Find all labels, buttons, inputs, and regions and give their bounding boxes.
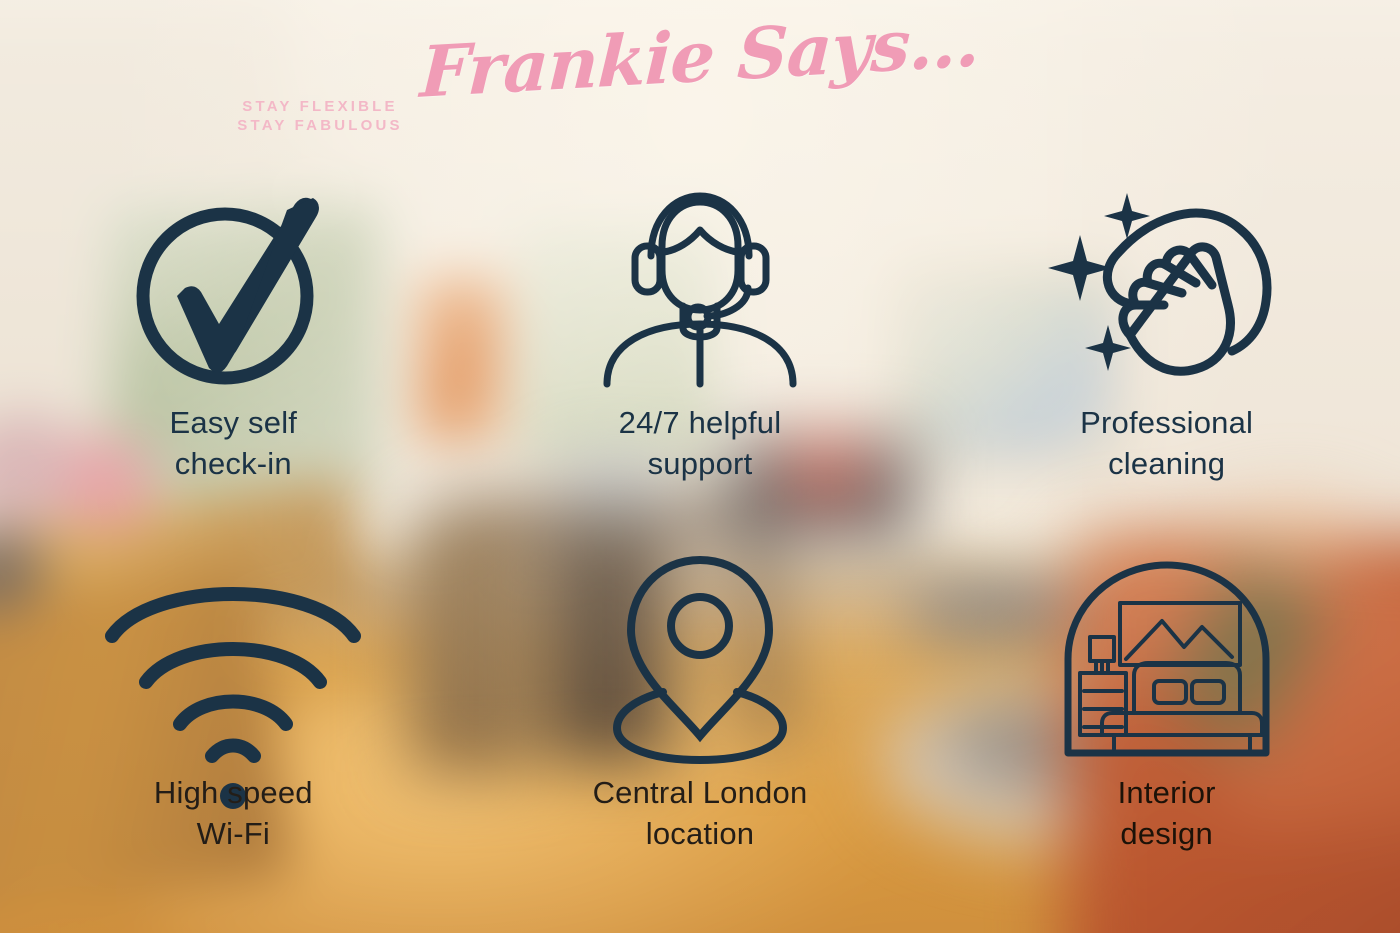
amenities-poster: Frankie Says... STAY FLEXIBLE STAY FABUL…	[0, 0, 1400, 933]
bedroom-arch-icon	[1056, 550, 1278, 765]
feature-wifi: High speed Wi-Fi	[0, 540, 467, 910]
feature-grid: Easy self check-in	[0, 170, 1400, 910]
brand-tagline-line-2: STAY FABULOUS	[205, 117, 435, 136]
feature-label: Professional cleaning	[1080, 403, 1253, 485]
check-circle-icon	[135, 180, 331, 395]
feature-cleaning: Professional cleaning	[933, 170, 1400, 540]
feature-label: Central London location	[593, 773, 808, 855]
headset-agent-icon	[585, 180, 815, 395]
brand-logo: Frankie Says... STAY FLEXIBLE STAY FABUL…	[0, 22, 1400, 136]
brand-tagline-line-1: STAY FLEXIBLE	[205, 98, 435, 117]
feature-label: High speed Wi-Fi	[154, 773, 313, 855]
feature-location: Central London location	[467, 540, 934, 910]
map-pin-icon	[605, 550, 795, 765]
feature-self-check-in: Easy self check-in	[0, 170, 467, 540]
brand-tagline: STAY FLEXIBLE STAY FABULOUS	[205, 98, 435, 136]
feature-label: Interior design	[1118, 773, 1216, 855]
feature-interior-design: Interior design	[933, 540, 1400, 910]
wifi-icon	[102, 550, 364, 765]
brand-wordmark: Frankie Says...	[419, 6, 981, 108]
feature-label: 24/7 helpful support	[619, 403, 782, 485]
hand-sparkle-icon	[1044, 180, 1289, 395]
feature-label: Easy self check-in	[170, 403, 298, 485]
feature-support: 24/7 helpful support	[467, 170, 934, 540]
